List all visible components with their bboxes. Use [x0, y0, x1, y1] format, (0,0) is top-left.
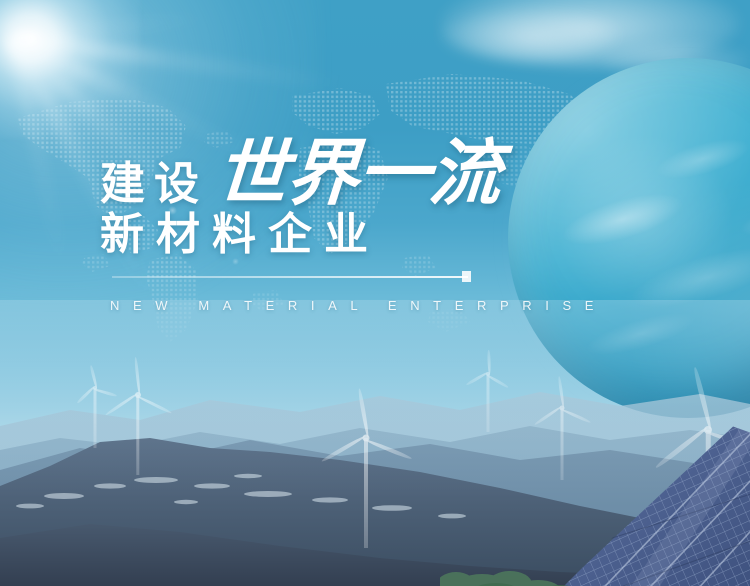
- lens-flare-dot: [128, 168, 142, 182]
- sun-flare: [0, 0, 140, 138]
- hero-banner: 建设 世界一流 新材料企业 NEW MATERIAL ENTERPRISE: [0, 0, 750, 586]
- wind-turbine: [78, 388, 112, 448]
- solar-panel-array: [440, 402, 750, 586]
- lens-flare-dot: [168, 206, 177, 215]
- wind-turbine: [108, 395, 168, 475]
- wind-turbine: [328, 438, 404, 548]
- lens-flare-dot: [232, 258, 239, 265]
